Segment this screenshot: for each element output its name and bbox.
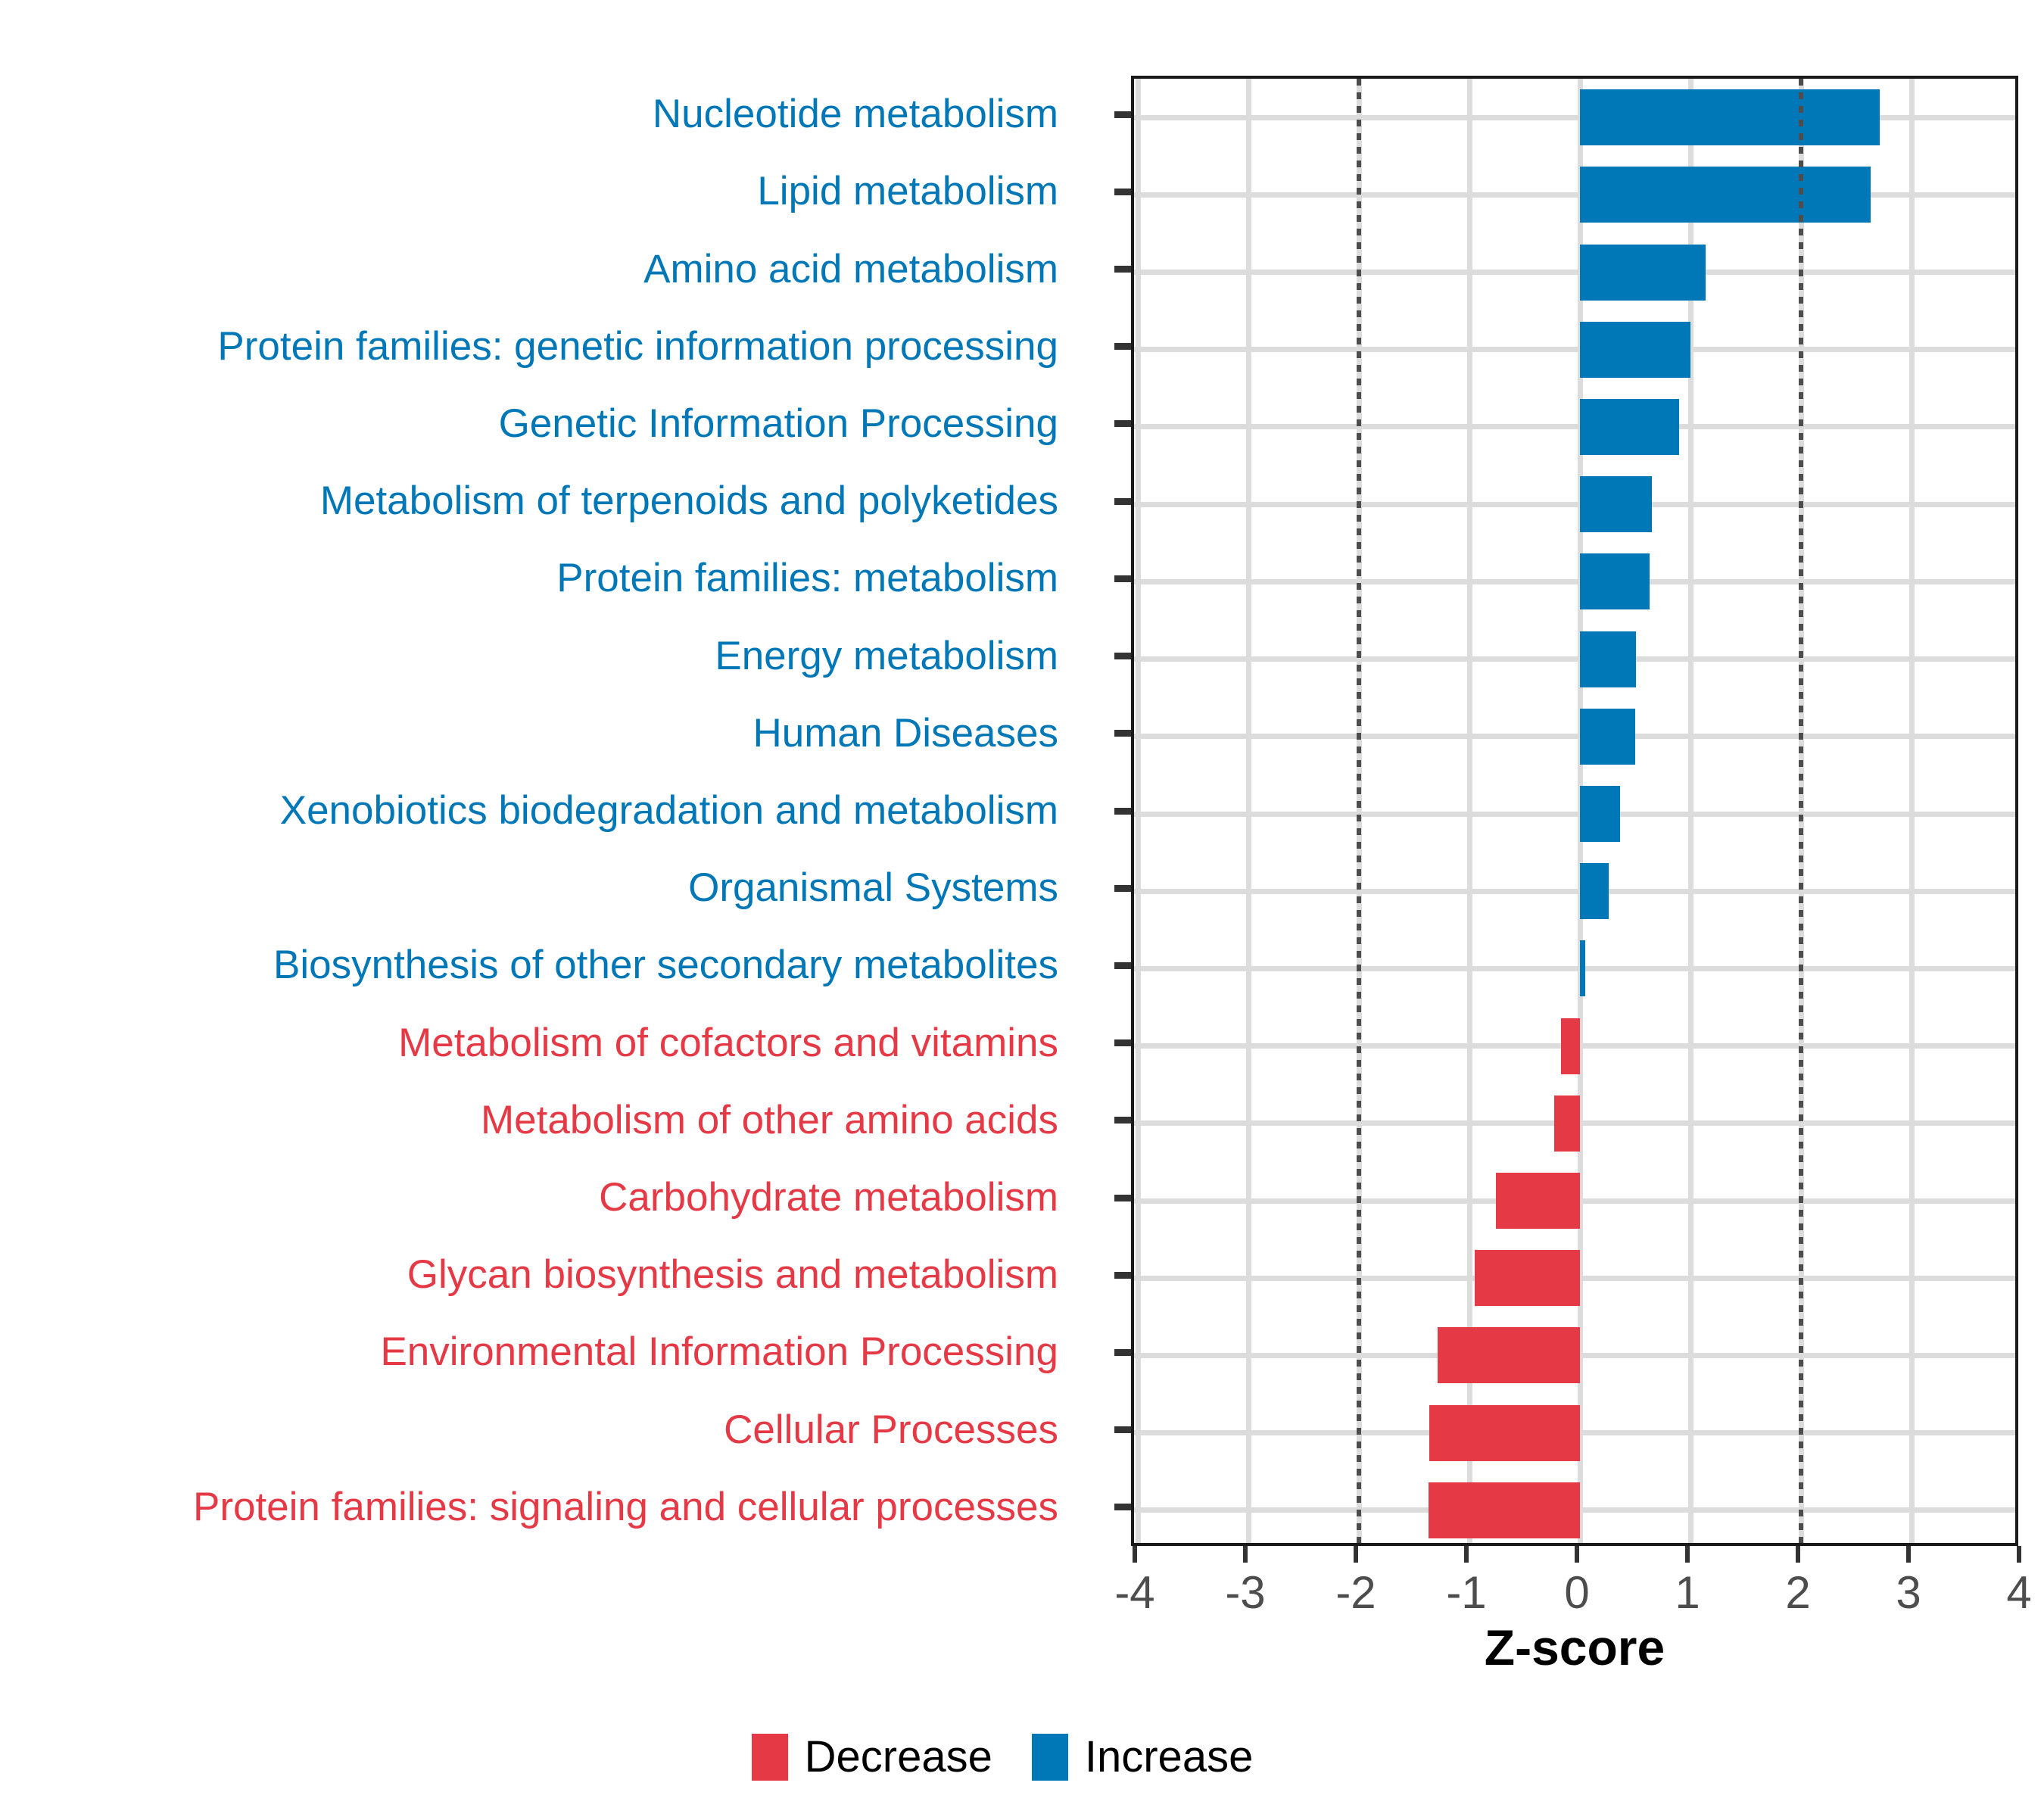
horizontal-gridline: [1134, 502, 2015, 507]
y-axis-category-label: Xenobiotics biodegradation and metabolis…: [0, 790, 1075, 831]
x-axis-tick-label: 0: [1516, 1570, 1637, 1616]
bar: [1580, 322, 1690, 378]
bar: [1561, 1018, 1580, 1074]
x-axis-tick: [1464, 1546, 1469, 1563]
horizontal-gridline: [1134, 192, 2015, 198]
y-axis-category-label: Cellular Processes: [0, 1410, 1075, 1450]
horizontal-gridline: [1134, 966, 2015, 971]
horizontal-gridline: [1134, 656, 2015, 662]
legend-item[interactable]: Decrease: [752, 1734, 1032, 1781]
y-axis-category-label: Amino acid metabolism: [0, 249, 1075, 289]
chart-root: Nucleotide metabolismLipid metabolismAmi…: [0, 0, 2044, 1817]
x-axis-tick-label: -3: [1185, 1570, 1306, 1616]
y-axis-category-label: Metabolism of other amino acids: [0, 1100, 1075, 1140]
x-axis-tick-label: -4: [1074, 1570, 1195, 1616]
y-axis-tick: [1114, 1039, 1131, 1046]
y-axis-tick: [1114, 1117, 1131, 1124]
y-axis-tick: [1114, 575, 1131, 582]
x-axis-title: Z-score: [1131, 1619, 2018, 1676]
y-axis-category-label: Metabolism of cofactors and vitamins: [0, 1023, 1075, 1063]
y-axis-tick: [1114, 1272, 1131, 1279]
bar: [1580, 786, 1620, 842]
y-axis-labels: Nucleotide metabolismLipid metabolismAmi…: [0, 76, 1075, 1546]
y-axis-category-label: Protein families: signaling and cellular…: [0, 1487, 1075, 1527]
x-axis-tick-label: -2: [1295, 1570, 1416, 1616]
y-axis-tick: [1114, 1349, 1131, 1356]
bar: [1580, 940, 1585, 996]
plot-panel: [1131, 76, 2018, 1546]
y-axis-tick: [1114, 1426, 1131, 1433]
threshold-line: [1799, 79, 1803, 1543]
bar: [1475, 1250, 1580, 1306]
y-axis-tick: [1114, 111, 1131, 118]
threshold-line: [1357, 79, 1361, 1543]
x-axis-tick: [1243, 1546, 1248, 1563]
y-axis-tick: [1114, 498, 1131, 505]
horizontal-gridline: [1134, 579, 2015, 584]
bar: [1496, 1173, 1580, 1229]
horizontal-gridline: [1134, 270, 2015, 275]
y-axis-tick: [1114, 1504, 1131, 1510]
bar: [1580, 245, 1706, 301]
x-axis-tick: [2017, 1546, 2021, 1563]
bar: [1580, 553, 1650, 609]
y-axis-tick: [1114, 266, 1131, 273]
horizontal-gridline: [1134, 115, 2015, 120]
bar: [1429, 1405, 1580, 1461]
horizontal-gridline: [1134, 812, 2015, 817]
x-axis-tick: [1685, 1546, 1690, 1563]
x-axis-tick-label: 2: [1737, 1570, 1859, 1616]
horizontal-gridline: [1134, 347, 2015, 352]
legend-label: Increase: [1085, 1735, 1253, 1779]
y-axis-category-label: Genetic Information Processing: [0, 404, 1075, 444]
y-axis-tick: [1114, 343, 1131, 350]
bar: [1580, 709, 1635, 765]
x-axis-tick: [1575, 1546, 1579, 1563]
bar: [1580, 89, 1880, 145]
x-axis-tick-label: -1: [1406, 1570, 1527, 1616]
y-axis-category-label: Energy metabolism: [0, 636, 1075, 676]
y-axis-tick: [1114, 189, 1131, 195]
y-axis-category-label: Biosynthesis of other secondary metaboli…: [0, 945, 1075, 985]
x-axis-tick: [1796, 1546, 1800, 1563]
y-axis-tick: [1114, 730, 1131, 737]
y-axis-tick: [1114, 420, 1131, 427]
bar: [1580, 476, 1652, 532]
y-axis-category-label: Carbohydrate metabolism: [0, 1177, 1075, 1217]
y-axis-category-label: Organismal Systems: [0, 868, 1075, 908]
x-axis-title-text: Z-score: [1485, 1619, 1665, 1675]
x-axis-tick-label: 3: [1848, 1570, 1969, 1616]
y-axis-tick: [1114, 885, 1131, 892]
x-axis-tick-label: 4: [1958, 1570, 2044, 1616]
x-axis-tick: [1906, 1546, 1911, 1563]
y-axis-tick: [1114, 653, 1131, 659]
y-axis-category-label: Glycan biosynthesis and metabolism: [0, 1254, 1075, 1295]
bar: [1554, 1095, 1580, 1152]
bar: [1438, 1327, 1580, 1383]
x-axis-tick: [1354, 1546, 1358, 1563]
y-axis-tick: [1114, 1195, 1131, 1201]
x-axis-tick: [1133, 1546, 1137, 1563]
horizontal-gridline: [1134, 889, 2015, 894]
bar: [1429, 1482, 1580, 1538]
horizontal-gridline: [1134, 424, 2015, 429]
legend-item[interactable]: Increase: [1032, 1734, 1292, 1781]
horizontal-gridline: [1134, 734, 2015, 739]
y-axis-category-label: Environmental Information Processing: [0, 1332, 1075, 1372]
bar: [1580, 631, 1636, 687]
y-axis-tick: [1114, 808, 1131, 815]
x-axis-tick-label: 1: [1627, 1570, 1748, 1616]
legend: DecreaseIncrease: [0, 1734, 2044, 1781]
legend-label: Decrease: [805, 1735, 992, 1779]
y-axis-category-label: Human Diseases: [0, 713, 1075, 753]
legend-swatch: [1032, 1734, 1068, 1781]
y-axis-category-label: Nucleotide metabolism: [0, 94, 1075, 134]
plot-area: [1134, 79, 2015, 1543]
y-axis-tick: [1114, 962, 1131, 969]
legend-swatch: [752, 1734, 788, 1781]
bar: [1580, 167, 1871, 223]
y-axis-category-label: Metabolism of terpenoids and polyketides: [0, 481, 1075, 521]
y-axis-category-label: Protein families: genetic information pr…: [0, 326, 1075, 366]
bar: [1580, 399, 1679, 455]
y-axis-category-label: Protein families: metabolism: [0, 558, 1075, 598]
y-axis-category-label: Lipid metabolism: [0, 171, 1075, 211]
bar: [1580, 863, 1609, 919]
